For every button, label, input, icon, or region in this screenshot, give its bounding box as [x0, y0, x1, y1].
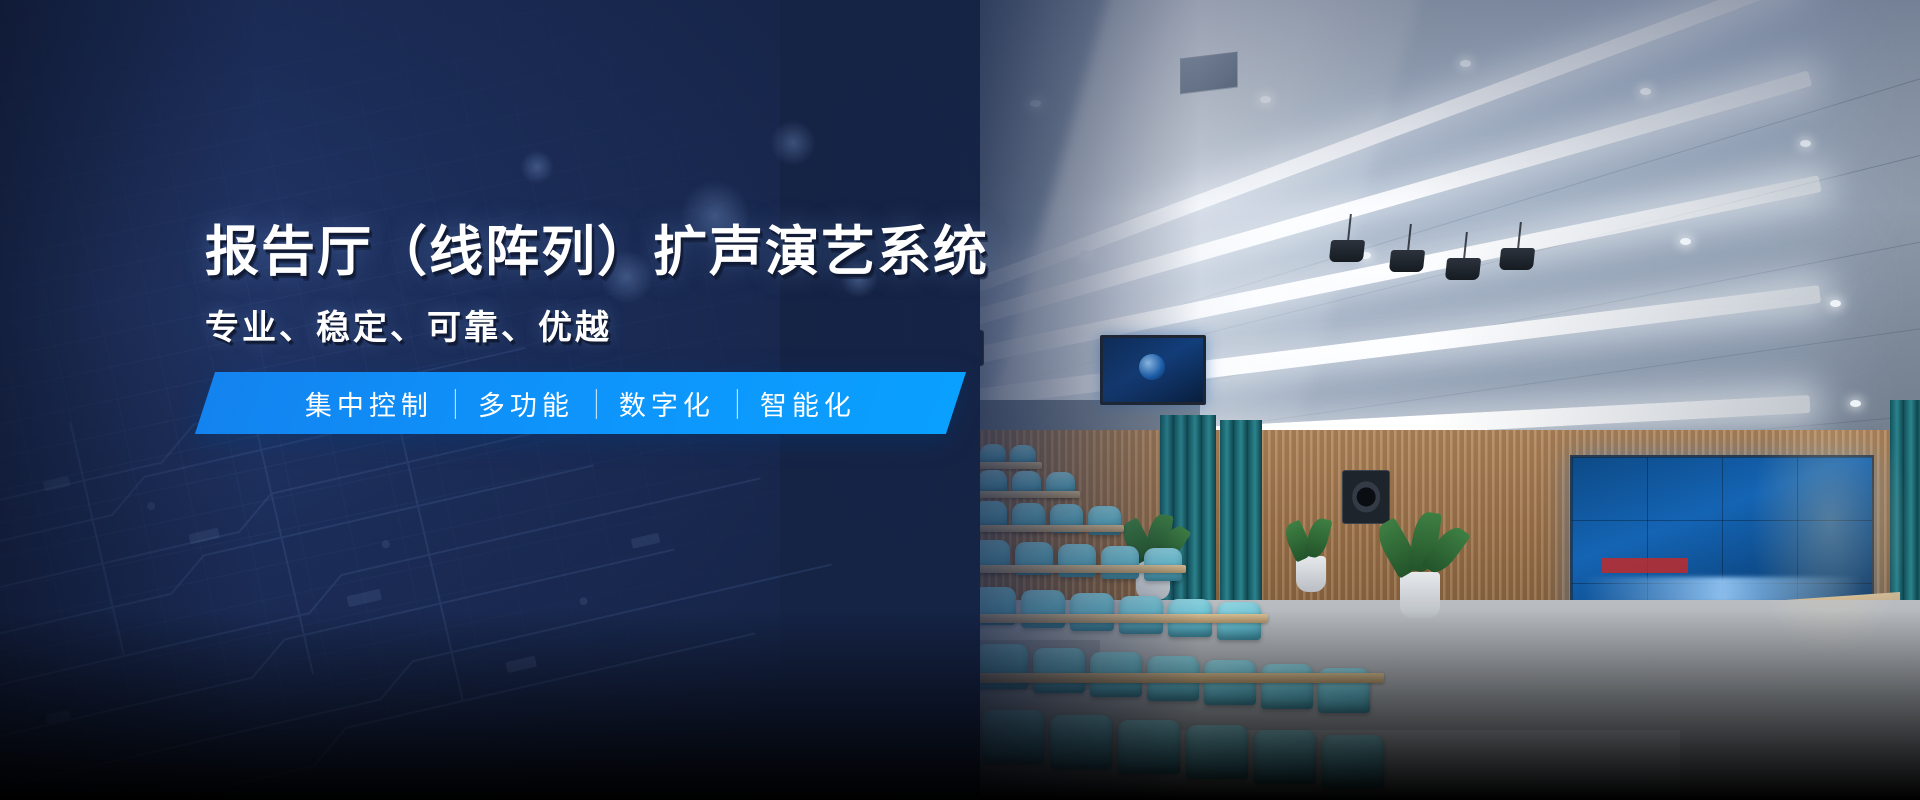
- feature-tag-1[interactable]: 多功能: [456, 384, 596, 423]
- feature-tag-bar-wrapper: 集中控制 多功能 数字化 智能化: [205, 372, 956, 434]
- feature-tag-2[interactable]: 数字化: [597, 384, 737, 423]
- hero-banner: 报告厅（线阵列）扩声演艺系统 专业、稳定、可靠、优越 集中控制 多功能 数字化 …: [0, 0, 1920, 800]
- bokeh-particle: [520, 150, 554, 184]
- page-subtitle: 专业、稳定、可靠、优越: [205, 300, 1105, 349]
- feature-tag-list: 集中控制 多功能 数字化 智能化: [283, 384, 878, 423]
- bokeh-particle: [770, 120, 816, 166]
- feature-tag-bar: 集中控制 多功能 数字化 智能化: [195, 372, 966, 434]
- hero-copy: 报告厅（线阵列）扩声演艺系统 专业、稳定、可靠、优越: [205, 222, 1105, 349]
- page-title: 报告厅（线阵列）扩声演艺系统: [205, 222, 1105, 282]
- feature-tag-0[interactable]: 集中控制: [283, 384, 455, 423]
- feature-tag-3[interactable]: 智能化: [738, 384, 878, 423]
